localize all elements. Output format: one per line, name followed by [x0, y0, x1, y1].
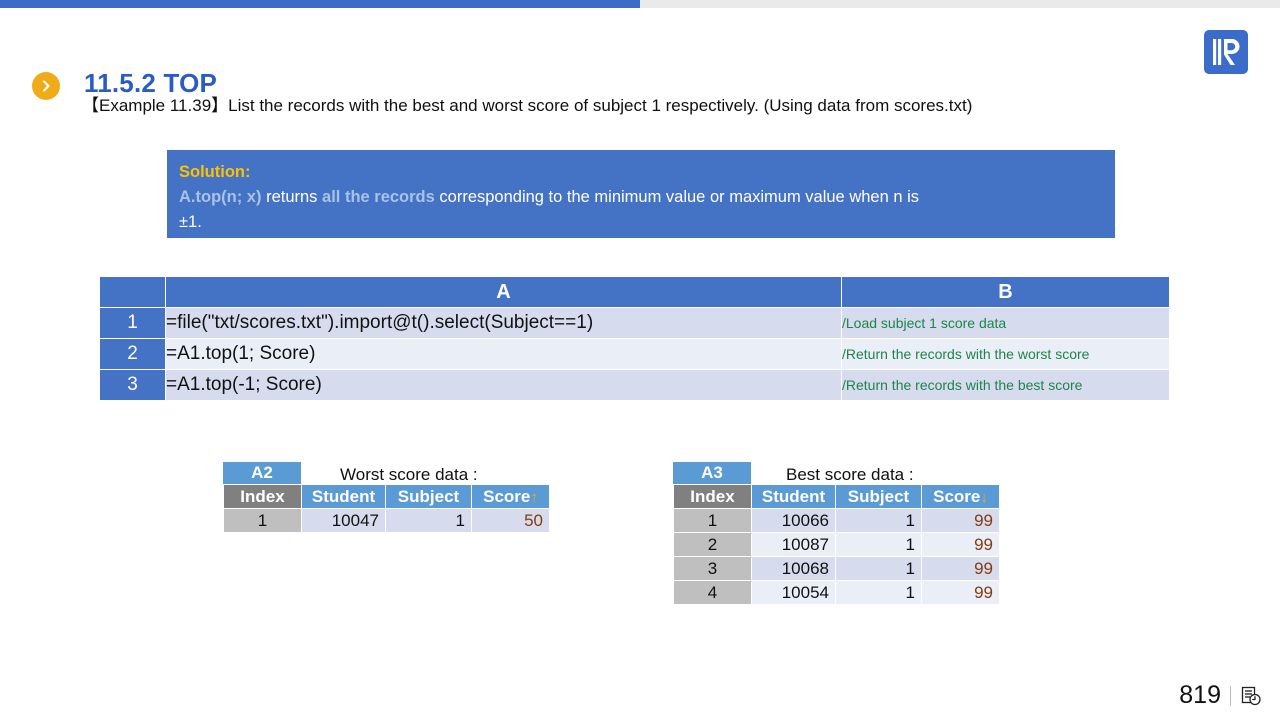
result-table-worst: Index Student Subject Score↑ 1 10047 1 5…	[223, 484, 550, 533]
solution-label-line: Solution:	[179, 160, 1103, 185]
cell-student: 10068	[752, 557, 836, 581]
result-header-row: Index Student Subject Score↑	[224, 485, 550, 509]
col-header-student[interactable]: Student	[752, 485, 836, 509]
result-table-best: Index Student Subject Score↓ 1 10066 1 9…	[673, 484, 1000, 605]
cell-subject: 1	[836, 509, 922, 533]
page-number: 819	[1179, 681, 1221, 710]
code-grid-col-header-b: B	[842, 277, 1170, 308]
solution-body: A.top(n; x) returns all the records corr…	[179, 185, 1103, 235]
col-header-score-label: Score	[483, 487, 530, 506]
col-header-index[interactable]: Index	[674, 485, 752, 509]
cell-score: 99	[922, 509, 1000, 533]
cell-score: 99	[922, 533, 1000, 557]
progress-bar-fill	[0, 0, 640, 8]
table-row: 1 10066 1 99	[674, 509, 1000, 533]
code-grid-row-number: 2	[100, 339, 166, 370]
result-panel-worst: Worst score data : A2 Index Student Subj…	[223, 462, 550, 533]
arrow-down-icon: ↓	[980, 489, 988, 506]
cell-index: 4	[674, 581, 752, 605]
code-cell-b3[interactable]: /Return the records with the best score	[842, 370, 1170, 401]
code-grid-row-number: 3	[100, 370, 166, 401]
result-caption-best: Best score data :	[786, 465, 914, 485]
result-tab-a3[interactable]: A3	[673, 462, 751, 484]
code-grid-row: 1 =file("txt/scores.txt").import@t().sel…	[100, 308, 1170, 339]
code-grid-header-row: A B	[100, 277, 1170, 308]
code-cell-a2[interactable]: =A1.top(1; Score)	[166, 339, 842, 370]
code-cell-a1[interactable]: =file("txt/scores.txt").import@t().selec…	[166, 308, 842, 339]
result-tab-a2[interactable]: A2	[223, 462, 301, 484]
solution-mid-text-2: corresponding to the minimum value or ma…	[435, 188, 919, 206]
cell-subject: 1	[836, 581, 922, 605]
col-header-score[interactable]: Score↑	[472, 485, 550, 509]
table-row: 4 10054 1 99	[674, 581, 1000, 605]
col-header-subject[interactable]: Subject	[836, 485, 922, 509]
code-grid: A B 1 =file("txt/scores.txt").import@t()…	[99, 276, 1170, 401]
code-cell-b1[interactable]: /Load subject 1 score data	[842, 308, 1170, 339]
cell-subject: 1	[836, 557, 922, 581]
raqsoft-logo-icon	[1204, 30, 1248, 74]
code-grid-col-header-a: A	[166, 277, 842, 308]
cell-score: 50	[472, 509, 550, 533]
progress-bar-track	[0, 0, 1280, 8]
result-header-row: Index Student Subject Score↓	[674, 485, 1000, 509]
table-row: 3 10068 1 99	[674, 557, 1000, 581]
solution-label: Solution:	[179, 163, 250, 181]
cell-index: 2	[674, 533, 752, 557]
code-cell-b2[interactable]: /Return the records with the worst score	[842, 339, 1170, 370]
cell-index: 1	[674, 509, 752, 533]
cell-subject: 1	[836, 533, 922, 557]
cell-index: 3	[674, 557, 752, 581]
cell-student: 10066	[752, 509, 836, 533]
slide-header: 11.5.2 TOP	[0, 30, 1280, 82]
col-header-score-label: Score	[933, 487, 980, 506]
cell-index: 1	[224, 509, 302, 533]
solution-emphasis: all the records	[322, 188, 435, 206]
chevron-right-circle-icon	[32, 72, 60, 100]
table-row: 1 10047 1 50	[224, 509, 550, 533]
solution-function-name: A.top(n; x)	[179, 188, 261, 206]
document-history-icon[interactable]	[1240, 685, 1262, 707]
code-cell-a3[interactable]: =A1.top(-1; Score)	[166, 370, 842, 401]
cell-score: 99	[922, 581, 1000, 605]
solution-box: Solution: A.top(n; x) returns all the re…	[167, 150, 1115, 238]
code-grid-row: 2 =A1.top(1; Score) /Return the records …	[100, 339, 1170, 370]
col-header-subject[interactable]: Subject	[386, 485, 472, 509]
col-header-score[interactable]: Score↓	[922, 485, 1000, 509]
cell-score: 99	[922, 557, 1000, 581]
code-grid-row-number: 1	[100, 308, 166, 339]
arrow-up-icon: ↑	[530, 489, 538, 506]
result-panel-best: Best score data : A3 Index Student Subje…	[673, 462, 1000, 605]
cell-student: 10087	[752, 533, 836, 557]
solution-tail-text: ±1.	[179, 210, 1103, 235]
code-grid-corner-cell	[100, 277, 166, 308]
example-statement: 【Example 11.39】List the records with the…	[82, 91, 972, 116]
table-row: 2 10087 1 99	[674, 533, 1000, 557]
cell-subject: 1	[386, 509, 472, 533]
cell-student: 10054	[752, 581, 836, 605]
col-header-student[interactable]: Student	[302, 485, 386, 509]
footer: 819	[1179, 681, 1262, 710]
col-header-index[interactable]: Index	[224, 485, 302, 509]
code-grid-row: 3 =A1.top(-1; Score) /Return the records…	[100, 370, 1170, 401]
result-caption-worst: Worst score data :	[340, 465, 478, 485]
footer-divider	[1230, 686, 1231, 706]
cell-student: 10047	[302, 509, 386, 533]
solution-mid-text-1: returns	[261, 188, 322, 206]
